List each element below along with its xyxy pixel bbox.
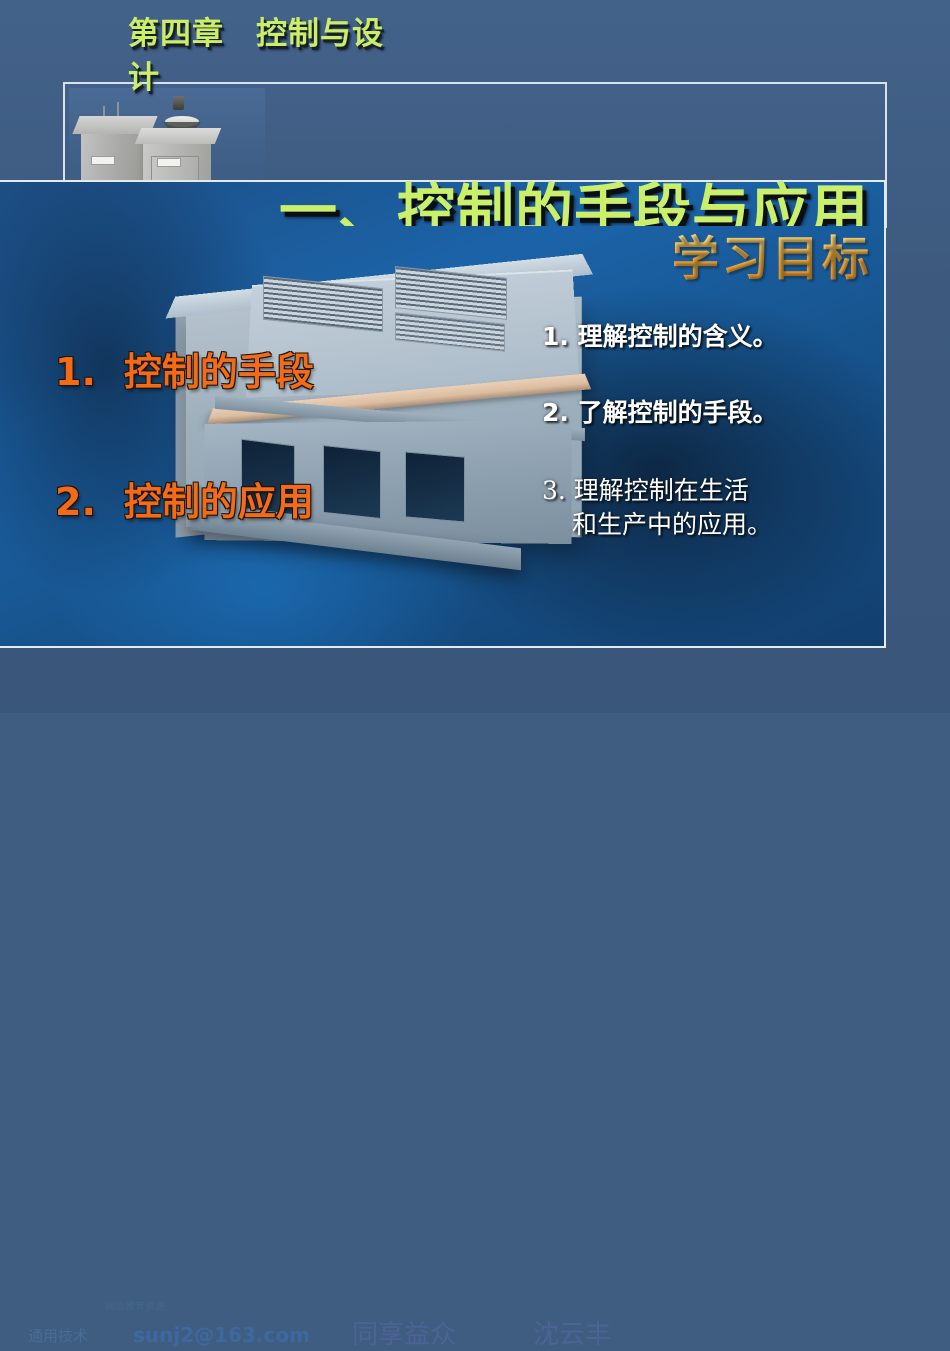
footer-subject: 通用技术 [28,1325,88,1346]
main-heading: 一、控制的手段与应用 [279,180,869,228]
goal-item-line1: 3. 理解控制在生活 [542,476,749,505]
footer-author: 沈云丰 [533,1314,611,1351]
goal-item: 3. 理解控制在生活 和生产中的应用。 [542,474,872,542]
knob-icon [173,96,184,110]
footer-tiny-text: 网络教育资源 [105,1298,165,1313]
slide: 第四章 控制与设 计 一、控制的手段与应用 [0,0,950,713]
list-item-label: 控制的应用 [124,480,314,524]
content-panel: 1.控制的手段 2.控制的应用 学习目标 1. 理解控制的含义。 2. 了解控制… [0,180,886,648]
list-item-number: 2. [55,480,96,524]
goal-item: 1. 理解控制的含义。 [542,322,872,352]
footer-email[interactable]: sunj2@163.com [133,1323,310,1347]
list-item[interactable]: 1.控制的手段 [55,350,314,394]
topic-list: 1.控制的手段 2.控制的应用 [55,350,314,610]
learning-goals: 学习目标 1. 理解控制的含义。 2. 了解控制的手段。 3. 理解控制在生活 … [542,234,872,542]
goal-item: 2. 了解控制的手段。 [542,398,872,428]
list-item[interactable]: 2.控制的应用 [55,480,314,524]
goal-item-line2: 和生产中的应用。 [542,508,872,542]
footer: 网络教育资源 通用技术 sunj2@163.com 同享益众 沈云丰 [0,648,950,713]
footer-organization: 同享益众 [352,1314,456,1351]
list-item-label: 控制的手段 [124,350,314,394]
learning-goals-title: 学习目标 [542,234,872,286]
list-item-number: 1. [55,350,96,394]
